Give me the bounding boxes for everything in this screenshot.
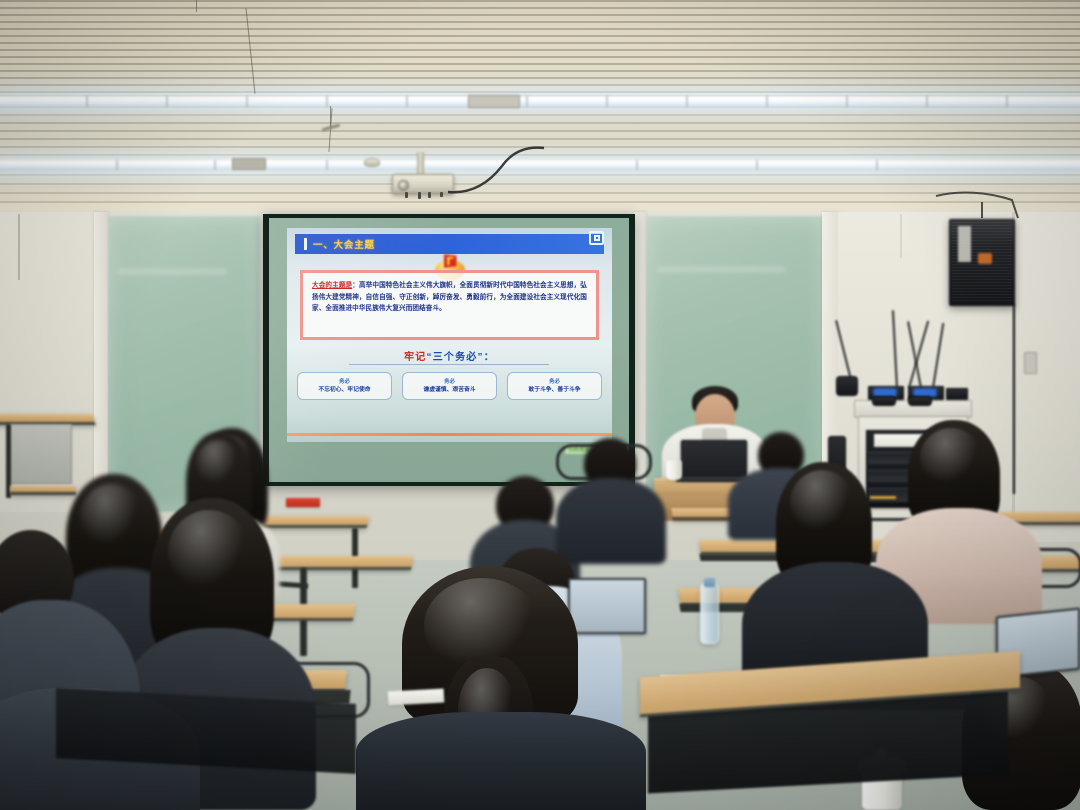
wall-seam-right-2 bbox=[900, 214, 902, 258]
slide-header-accent bbox=[304, 238, 307, 250]
panel-frame-left bbox=[94, 212, 108, 512]
mic-base-2 bbox=[872, 396, 896, 406]
must-card-3-heading: 务必 bbox=[549, 379, 560, 386]
must-card-2-heading: 务必 bbox=[444, 379, 455, 386]
wall-outlet[interactable] bbox=[1024, 352, 1037, 374]
musts-divider bbox=[349, 364, 549, 365]
mic-base-3 bbox=[908, 396, 932, 406]
screen-surface: 一、大会主题 大会的主题是：高举中国特色社会主义伟大旗帜，全面贯彻新时代中国特色… bbox=[269, 218, 629, 482]
theme-colon: ： bbox=[352, 282, 359, 289]
ceiling-hanger-1 bbox=[196, 0, 197, 12]
theme-text-box: 大会的主题是：高举中国特色社会主义伟大旗帜，全面贯彻新时代中国特色社会主义思想，… bbox=[300, 270, 599, 340]
notebook-foreground bbox=[388, 689, 445, 706]
mic-receiver-3[interactable] bbox=[946, 388, 968, 400]
ceiling-light-junction bbox=[468, 95, 520, 108]
must-card-3: 务必 敢于斗争、善于斗争 bbox=[507, 372, 602, 400]
detector-wire bbox=[330, 106, 331, 128]
musts-title-colon: ： bbox=[484, 352, 495, 363]
mic-receiver-1-display bbox=[874, 389, 896, 396]
ceiling-light-strip-1 bbox=[0, 96, 1080, 107]
smoke-detector-icon bbox=[364, 158, 380, 167]
a6-body bbox=[556, 478, 666, 564]
speaker-cable bbox=[1013, 304, 1015, 494]
presentation-slide: 一、大会主题 大会的主题是：高举中国特色社会主义伟大旗帜，全面贯彻新时代中国特色… bbox=[287, 228, 612, 442]
red-booklet bbox=[286, 498, 320, 507]
water-bottle bbox=[700, 584, 719, 644]
projector-foot-3 bbox=[428, 192, 431, 198]
must-card-2: 务必 谦虚谨慎、艰苦奋斗 bbox=[402, 372, 497, 400]
mic-base-1 bbox=[836, 376, 858, 396]
presenter-mug bbox=[666, 460, 682, 480]
theme-paragraph: 大会的主题是：高举中国特色社会主义伟大旗帜，全面贯彻新时代中国特色社会主义思想，… bbox=[312, 280, 587, 315]
theme-label: 大会的主题是 bbox=[312, 282, 352, 289]
must-card-2-text: 谦虚谨慎、艰苦奋斗 bbox=[423, 386, 475, 394]
slide-header: 一、大会主题 bbox=[295, 234, 604, 254]
projector-foot-2 bbox=[418, 192, 421, 199]
projector-mount-pole bbox=[417, 152, 424, 176]
slide-footer-line bbox=[287, 433, 612, 436]
speaker-label bbox=[958, 226, 971, 262]
projector-lens-icon bbox=[398, 180, 409, 191]
speaker-indicator bbox=[978, 253, 992, 264]
desk-left-edge-shelf bbox=[10, 486, 76, 495]
projector-cable bbox=[440, 140, 560, 210]
water-bottle-cap bbox=[704, 578, 715, 587]
a4-body bbox=[356, 712, 646, 810]
must-card-1-text: 不忘初心、牢记使命 bbox=[318, 386, 370, 394]
slide-title: 一、大会主题 bbox=[313, 237, 375, 251]
presenter-laptop[interactable] bbox=[681, 440, 747, 480]
rack-led-bar bbox=[870, 496, 896, 499]
ceiling-band-upper bbox=[0, 0, 1080, 96]
bracket-logo-icon bbox=[589, 231, 604, 245]
mic-receiver-2-display bbox=[914, 389, 936, 396]
musts-title-main: 牢记 bbox=[404, 352, 426, 363]
musts-title: 牢记“三个务必”： bbox=[287, 348, 612, 363]
musts-cards: 务必 不忘初心、牢记使命 务必 谦虚谨慎、艰苦奋斗 务必 敢于斗争、善于斗争 bbox=[297, 372, 602, 402]
must-card-1-heading: 务必 bbox=[339, 379, 350, 386]
ceiling-light-box-2 bbox=[232, 158, 266, 170]
audience-laptop-center[interactable] bbox=[568, 578, 646, 634]
classroom-photo: 一、大会主题 大会的主题是：高举中国特色社会主义伟大旗帜，全面贯彻新时代中国特色… bbox=[0, 0, 1080, 810]
projector-foot-1 bbox=[405, 192, 408, 198]
desk-left-edge-panel bbox=[8, 424, 72, 484]
must-card-1: 务必 不忘初心、牢记使命 bbox=[297, 372, 392, 400]
speaker-bracket-cable bbox=[930, 188, 1040, 228]
musts-title-quoted: “三个务必” bbox=[427, 352, 484, 363]
wall-seam-left bbox=[18, 214, 20, 280]
must-card-3-text: 敢于斗争、善于斗争 bbox=[528, 386, 580, 394]
